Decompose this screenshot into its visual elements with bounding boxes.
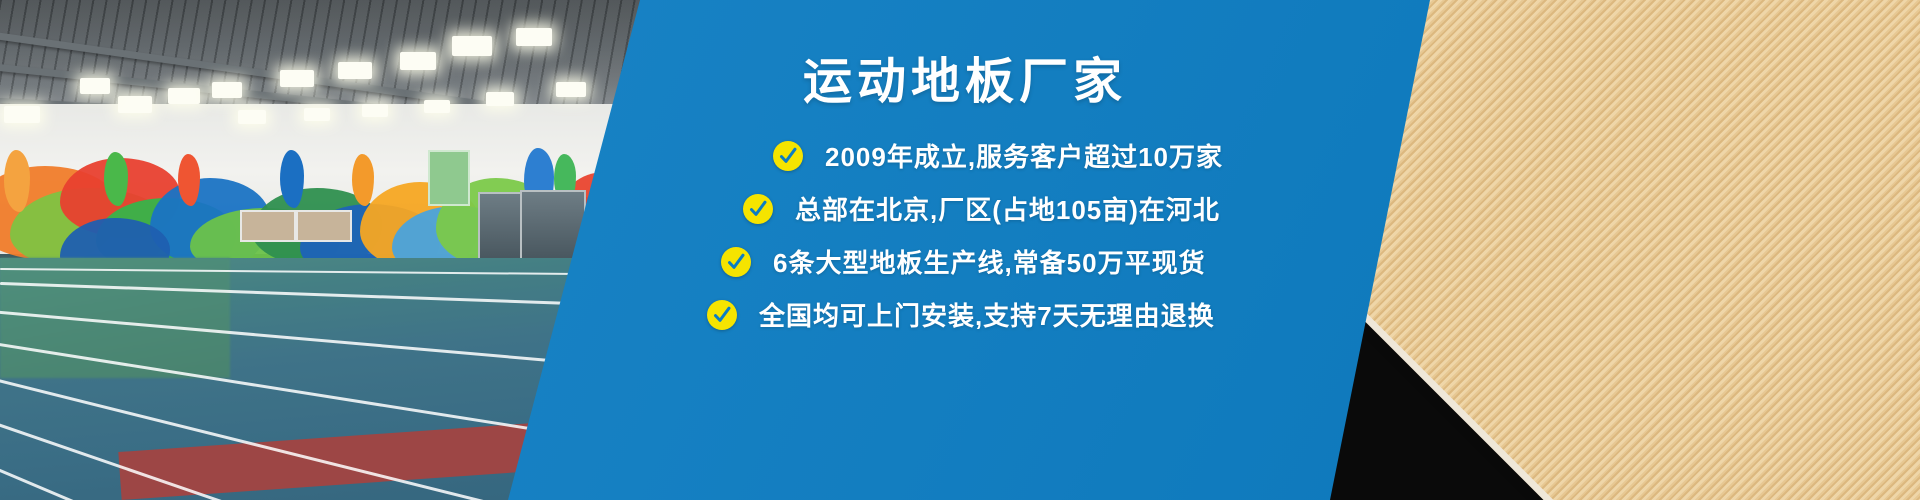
ceiling-lamp <box>4 106 40 123</box>
ceiling-lamp <box>424 100 450 113</box>
list-item: 6条大型地板生产线,常备50万平现货 <box>721 243 1223 280</box>
list-item-label: 全国均可上门安装,支持7天无理由退换 <box>759 296 1215 333</box>
check-circle-icon <box>707 300 737 330</box>
wall-board <box>240 210 296 242</box>
feature-list: 2009年成立,服务客户超过10万家 总部在北京,厂区(占地105亩)在河北 6… <box>707 137 1223 333</box>
check-circle-icon <box>773 141 803 171</box>
list-item-label: 2009年成立,服务客户超过10万家 <box>825 137 1223 174</box>
ceiling-lamp <box>168 88 200 104</box>
list-item-label: 总部在北京,厂区(占地105亩)在河北 <box>795 190 1220 227</box>
ceiling-lamp <box>486 92 514 106</box>
check-circle-icon <box>743 194 773 224</box>
ceiling-lamp <box>280 70 314 87</box>
list-item: 总部在北京,厂区(占地105亩)在河北 <box>743 190 1223 227</box>
promo-banner: 运动地板厂家 2009年成立,服务客户超过10万家 总部在北京,厂区(占地105… <box>0 0 1920 500</box>
ceiling-lamp <box>452 36 492 56</box>
ceiling-lamp <box>516 28 552 46</box>
floor-green-zone <box>0 258 230 378</box>
ceiling-lamp <box>212 82 242 98</box>
wall-board <box>296 210 352 242</box>
ceiling-lamp <box>338 62 372 79</box>
ceiling-lamp <box>118 96 152 113</box>
ceiling-lamp <box>400 52 436 70</box>
list-item: 2009年成立,服务客户超过10万家 <box>773 137 1223 174</box>
glass-door <box>478 192 522 266</box>
ceiling-lamp <box>238 110 266 124</box>
ceiling-lamp <box>304 108 330 121</box>
list-item: 全国均可上门安装,支持7天无理由退换 <box>707 296 1223 333</box>
ceiling-lamp <box>80 78 110 94</box>
wall-poster <box>428 150 470 206</box>
page-title: 运动地板厂家 <box>803 58 1127 107</box>
promo-content: 运动地板厂家 2009年成立,服务客户超过10万家 总部在北京,厂区(占地105… <box>565 0 1365 500</box>
check-circle-icon <box>721 247 751 277</box>
list-item-label: 6条大型地板生产线,常备50万平现货 <box>773 243 1206 280</box>
ceiling-lamp <box>362 104 388 117</box>
